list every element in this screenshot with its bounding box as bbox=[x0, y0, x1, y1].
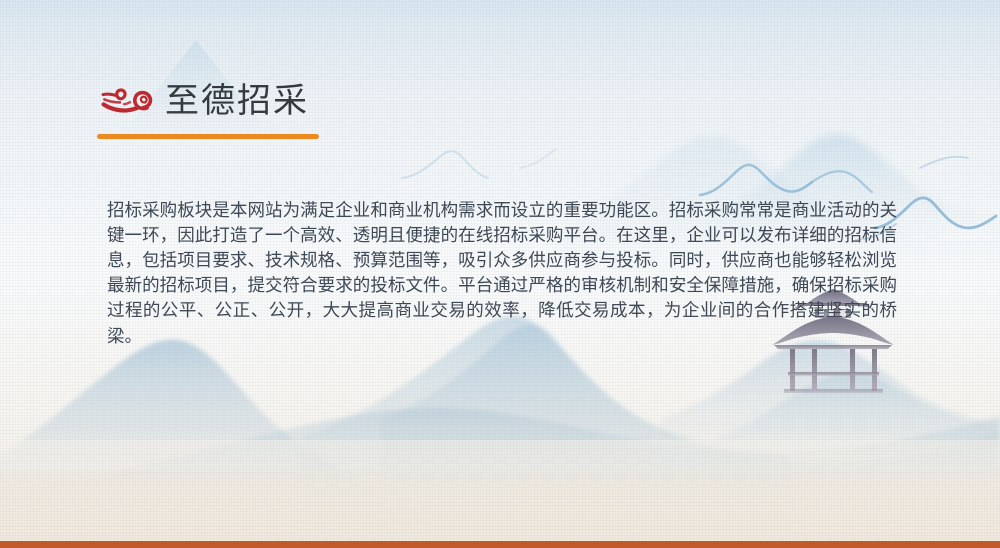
brush-stroke-peaks-left bbox=[402, 149, 556, 178]
mid-right-hills bbox=[660, 340, 1000, 500]
header-row: 至德招采 bbox=[97, 72, 319, 122]
section-header: 至德招采 bbox=[97, 72, 319, 139]
ink-wash-mountains bbox=[0, 316, 1000, 548]
title-underline-rule bbox=[97, 134, 319, 139]
mist-band bbox=[0, 440, 1000, 548]
auspicious-cloud-icon bbox=[97, 80, 155, 120]
footer-accent-bar bbox=[0, 541, 1000, 548]
page-root: 至德招采 招标采购板块是本网站为满足企业和商业机构需求而设立的重要功能区。招标采… bbox=[0, 0, 1000, 548]
page-title: 至德招采 bbox=[165, 82, 309, 122]
intro-paragraph: 招标采购板块是本网站为满足企业和商业机构需求而设立的重要功能区。招标采购常常是商… bbox=[107, 198, 897, 349]
